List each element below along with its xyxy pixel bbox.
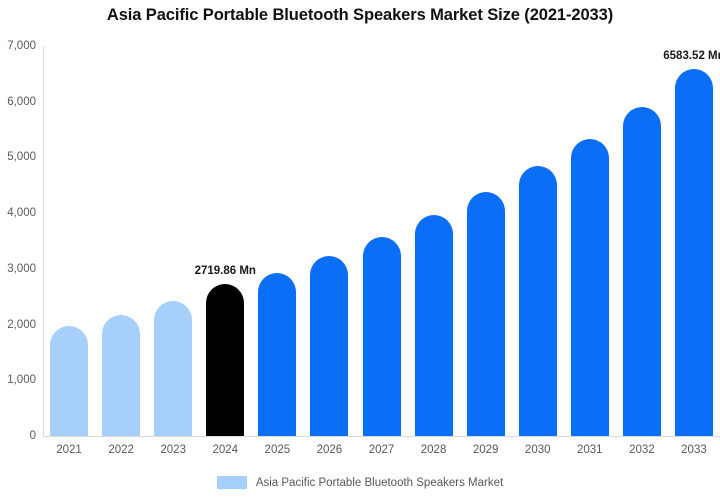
plot-area: 2719.86 Mn6583.52 Mn xyxy=(43,46,720,436)
x-axis-tick-label: 2033 xyxy=(681,444,707,456)
bar[interactable] xyxy=(467,192,505,436)
bar[interactable] xyxy=(623,107,661,436)
x-axis-tick-label: 2024 xyxy=(212,444,238,456)
y-axis-tick-label: 5,000 xyxy=(0,151,36,163)
x-axis-tick-label: 2028 xyxy=(421,444,447,456)
x-axis-tick-labels: 2021202220232024202520262027202820292030… xyxy=(43,444,720,464)
bar[interactable] xyxy=(571,139,609,436)
bar[interactable] xyxy=(102,315,140,436)
chart-legend: Asia Pacific Portable Bluetooth Speakers… xyxy=(0,476,720,489)
chart-title: Asia Pacific Portable Bluetooth Speakers… xyxy=(0,6,720,25)
legend-label: Asia Pacific Portable Bluetooth Speakers… xyxy=(256,477,503,489)
bar[interactable] xyxy=(363,237,401,436)
x-axis-tick-label: 2021 xyxy=(56,444,82,456)
bar[interactable] xyxy=(258,273,296,436)
y-axis-tick-label: 7,000 xyxy=(0,40,36,52)
bar[interactable] xyxy=(154,301,192,436)
bar[interactable] xyxy=(50,326,88,436)
bar[interactable] xyxy=(310,256,348,437)
x-axis-tick-label: 2032 xyxy=(629,444,655,456)
y-axis-tick-label: 0 xyxy=(0,430,36,442)
bar-chart: Asia Pacific Portable Bluetooth Speakers… xyxy=(0,0,720,500)
x-axis-tick-label: 2026 xyxy=(317,444,343,456)
bar[interactable] xyxy=(415,215,453,436)
bar-series: 2719.86 Mn6583.52 Mn xyxy=(43,46,720,436)
y-axis-tick-label: 1,000 xyxy=(0,374,36,386)
bar-value-label: 6583.52 Mn xyxy=(663,50,720,62)
y-axis-tick-label: 2,000 xyxy=(0,319,36,331)
x-axis-tick-label: 2022 xyxy=(108,444,134,456)
x-axis-tick-label: 2023 xyxy=(160,444,186,456)
bar-value-label: 2719.86 Mn xyxy=(195,265,256,277)
y-axis-tick-label: 3,000 xyxy=(0,263,36,275)
x-axis-tick-label: 2029 xyxy=(473,444,499,456)
x-axis-tick-label: 2030 xyxy=(525,444,551,456)
y-axis-tick-label: 4,000 xyxy=(0,207,36,219)
x-axis-line xyxy=(43,436,720,437)
bar[interactable] xyxy=(519,166,557,436)
legend-color-swatch xyxy=(217,476,247,489)
x-axis-tick-label: 2025 xyxy=(265,444,291,456)
bar[interactable] xyxy=(206,284,244,436)
bar[interactable] xyxy=(675,69,713,436)
x-axis-tick-label: 2027 xyxy=(369,444,395,456)
x-axis-tick-label: 2031 xyxy=(577,444,603,456)
y-axis-tick-label: 6,000 xyxy=(0,96,36,108)
